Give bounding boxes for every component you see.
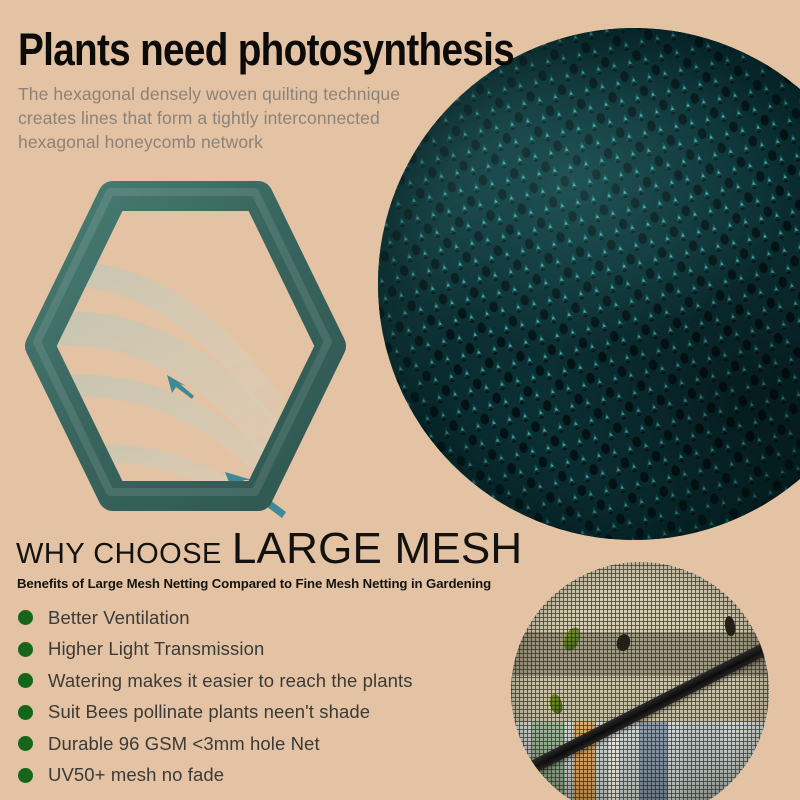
benefit-text: Suit Bees pollinate plants neen't shade: [48, 701, 370, 723]
bullet-dot-icon: [18, 705, 33, 720]
list-item: Suit Bees pollinate plants neen't shade: [18, 697, 488, 729]
bullet-dot-icon: [18, 768, 33, 783]
benefit-text: UV50+ mesh no fade: [48, 764, 224, 786]
why-choose-emphasis: LARGE MESH: [232, 524, 523, 574]
large-mesh-fabric-closeup: [378, 28, 800, 540]
page-title: Plants need photosynthesis: [18, 27, 514, 73]
bullet-dot-icon: [18, 673, 33, 688]
bullet-dot-icon: [18, 610, 33, 625]
list-item: UV50+ mesh no fade: [18, 760, 488, 792]
benefit-text: Higher Light Transmission: [48, 638, 264, 660]
bullet-dot-icon: [18, 642, 33, 657]
page-subtitle: The hexagonal densely woven quilting tec…: [18, 82, 418, 154]
bullet-dot-icon: [18, 736, 33, 751]
benefit-text: Durable 96 GSM <3mm hole Net: [48, 733, 320, 755]
hexagon-airflow-diagram: [0, 150, 380, 540]
benefits-list: Better Ventilation Higher Light Transmis…: [18, 602, 488, 791]
why-choose-heading: WHY CHOOSE LARGE MESH: [16, 524, 522, 574]
benefit-text: Watering makes it easier to reach the pl…: [48, 670, 413, 692]
benefit-text: Better Ventilation: [48, 607, 190, 629]
product-poster: Plants need photosynthesis The hexagonal…: [0, 0, 800, 800]
list-item: Higher Light Transmission: [18, 634, 488, 666]
list-item: Watering makes it easier to reach the pl…: [18, 665, 488, 697]
benefits-subtitle: Benefits of Large Mesh Netting Compared …: [17, 576, 491, 591]
fine-mesh-insects-photo: [511, 562, 769, 800]
list-item: Durable 96 GSM <3mm hole Net: [18, 728, 488, 760]
mesh-hole-texture: [378, 28, 800, 540]
why-choose-prefix: WHY CHOOSE: [16, 538, 222, 571]
list-item: Better Ventilation: [18, 602, 488, 634]
